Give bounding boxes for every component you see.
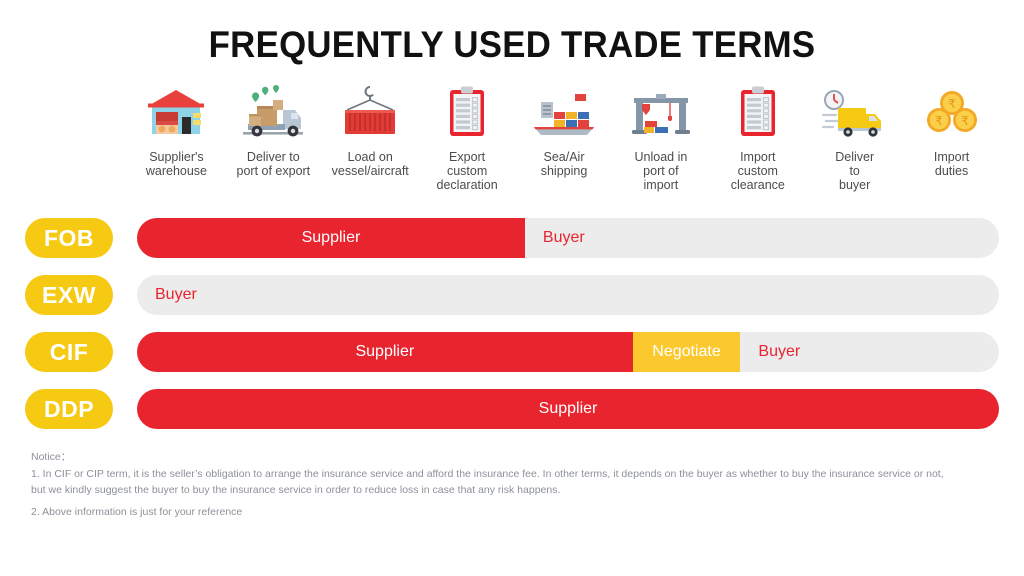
- svg-text:₹: ₹: [935, 114, 943, 128]
- process-step-1: Supplier's warehouse: [128, 84, 225, 178]
- segment-label: Buyer: [543, 229, 585, 247]
- notice-block: Notice： 1. In CIF or CIP term, it is the…: [31, 450, 1006, 521]
- responsibility-track: SupplierNegotiateBuyer: [137, 332, 999, 372]
- segment-label: Buyer: [155, 286, 197, 304]
- segment-supplier: Supplier: [137, 332, 633, 372]
- process-step-label: Import duties: [934, 150, 969, 178]
- segment-negotiate: Negotiate: [633, 332, 741, 372]
- term-badge-cif[interactable]: CIF: [25, 332, 113, 372]
- process-step-6: Unload in port of import: [612, 84, 709, 192]
- term-badge-fob[interactable]: FOB: [25, 218, 113, 258]
- clipboard-checklist-icon: [429, 84, 505, 142]
- trade-term-row: CIFSupplierNegotiateBuyer: [0, 332, 1024, 372]
- notice-item-1: 1. In CIF or CIP term, it is the seller’…: [31, 467, 1006, 482]
- segment-label: Supplier: [539, 400, 598, 418]
- segment-buyer: Buyer: [137, 275, 999, 315]
- process-step-label: Import custom clearance: [731, 150, 785, 192]
- process-steps: Supplier's warehouse Deliver to port of …: [128, 84, 1000, 196]
- trade-term-row: DDPSupplier: [0, 389, 1024, 429]
- process-step-label: Sea/Air shipping: [541, 150, 588, 178]
- process-step-8: Deliver to buyer: [806, 84, 903, 192]
- notice-item-1-continued: but we kindly suggest the buyer to buy t…: [31, 483, 1006, 498]
- process-step-9: ₹ ₹ ₹ Import duties: [903, 84, 1000, 178]
- segment-buyer: Buyer: [740, 332, 999, 372]
- segment-label: Supplier: [302, 229, 361, 247]
- trade-term-rows: FOBSupplierBuyerEXWBuyerCIFSupplierNegot…: [0, 218, 1024, 446]
- responsibility-track: Supplier: [137, 389, 999, 429]
- notice-item-2: 2. Above information is just for your re…: [31, 505, 1006, 520]
- warehouse-icon: [138, 84, 214, 142]
- term-badge-exw[interactable]: EXW: [25, 275, 113, 315]
- trade-term-row: FOBSupplierBuyer: [0, 218, 1024, 258]
- segment-supplier: Supplier: [137, 218, 525, 258]
- trade-term-row: EXWBuyer: [0, 275, 1024, 315]
- container-crane-hook-icon: [332, 84, 408, 142]
- process-step-5: Sea/Air shipping: [516, 84, 613, 178]
- process-step-label: Supplier's warehouse: [146, 150, 207, 178]
- notice-heading: Notice：: [31, 450, 1006, 465]
- fast-delivery-truck-icon: [817, 84, 893, 142]
- responsibility-track: SupplierBuyer: [137, 218, 999, 258]
- process-step-label: Load on vessel/aircraft: [332, 150, 409, 178]
- process-step-4: Export custom declaration: [419, 84, 516, 192]
- segment-buyer: Buyer: [525, 218, 999, 258]
- infographic-page: FREQUENTLY USED TRADE TERMS Supplier's w…: [0, 0, 1024, 576]
- process-step-2: Deliver to port of export: [225, 84, 322, 178]
- gold-coins-icon: ₹ ₹ ₹: [914, 84, 990, 142]
- segment-supplier: Supplier: [137, 389, 999, 429]
- process-step-7: Import custom clearance: [709, 84, 806, 192]
- process-step-label: Unload in port of import: [634, 150, 687, 192]
- segment-label: Supplier: [355, 343, 414, 361]
- page-title: FREQUENTLY USED TRADE TERMS: [31, 24, 994, 66]
- cargo-ship-icon: [526, 84, 602, 142]
- process-step-label: Deliver to buyer: [835, 150, 874, 192]
- segment-label: Negotiate: [652, 343, 721, 361]
- term-badge-ddp[interactable]: DDP: [25, 389, 113, 429]
- delivery-truck-icon: [235, 84, 311, 142]
- responsibility-track: Buyer: [137, 275, 999, 315]
- process-step-label: Deliver to port of export: [237, 150, 311, 178]
- process-step-3: Load on vessel/aircraft: [322, 84, 419, 178]
- svg-text:₹: ₹: [948, 97, 956, 111]
- process-step-label: Export custom declaration: [437, 150, 498, 192]
- segment-label: Buyer: [758, 343, 800, 361]
- svg-text:₹: ₹: [961, 114, 969, 128]
- clipboard-checklist-icon: [720, 84, 796, 142]
- gantry-crane-icon: [623, 84, 699, 142]
